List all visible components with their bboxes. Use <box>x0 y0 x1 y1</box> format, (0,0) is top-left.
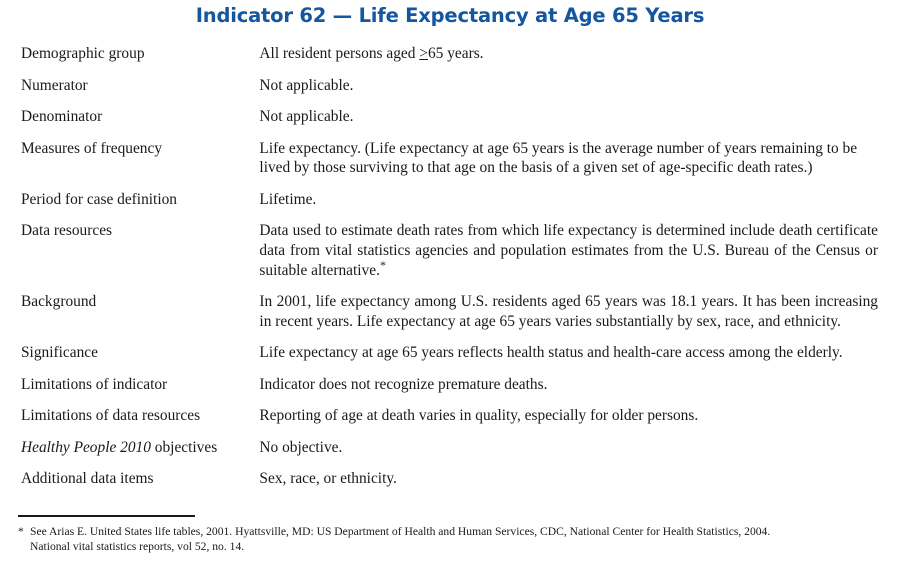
table-row: Limitations of indicator Indicator does … <box>21 375 878 407</box>
table-row: Limitations of data resources Reporting … <box>21 406 878 438</box>
footnote-text-2: National vital statistics reports, vol 5… <box>30 540 244 553</box>
row-label-significance: Significance <box>21 343 259 375</box>
greater-than-or-equal-glyph: > <box>419 45 428 62</box>
row-label-healthy-people-objectives: Healthy People 2010 objectives <box>21 438 259 470</box>
table-row: Demographic group All resident persons a… <box>21 44 878 76</box>
row-label-background: Background <box>21 292 259 343</box>
page-title: Indicator 62 — Life Expectancy at Age 65… <box>0 4 900 27</box>
table-row: Healthy People 2010 objectives No object… <box>21 438 878 470</box>
row-label-additional-data-items: Additional data items <box>21 469 259 501</box>
table-row: Additional data items Sex, race, or ethn… <box>21 469 878 501</box>
footnote-separator-rule <box>18 515 195 517</box>
table-row: Numerator Not applicable. <box>21 76 878 108</box>
row-value-background: In 2001, life expectancy among U.S. resi… <box>259 292 878 343</box>
row-value-significance: Life expectancy at age 65 years reflects… <box>259 343 878 375</box>
table-row: Background In 2001, life expectancy amon… <box>21 292 878 343</box>
row-value-healthy-people-objectives: No objective. <box>259 438 878 470</box>
label-plain-part: objectives <box>151 439 217 456</box>
table-row: Denominator Not applicable. <box>21 107 878 139</box>
row-label-numerator: Numerator <box>21 76 259 108</box>
row-value-numerator: Not applicable. <box>259 76 878 108</box>
row-label-period-for-case-definition: Period for case definition <box>21 190 259 222</box>
footnote: *See Arias E. United States life tables,… <box>18 524 898 555</box>
table-row: Significance Life expectancy at age 65 y… <box>21 343 878 375</box>
row-value-period-for-case-definition: Lifetime. <box>259 190 878 222</box>
label-italic-part: Healthy People 2010 <box>21 439 151 456</box>
row-value-additional-data-items: Sex, race, or ethnicity. <box>259 469 878 501</box>
row-label-limitations-of-data-resources: Limitations of data resources <box>21 406 259 438</box>
value-text-prefix: All resident persons aged <box>259 45 419 62</box>
table-row: Data resources Data used to estimate dea… <box>21 221 878 292</box>
row-value-demographic-group: All resident persons aged >65 years. <box>259 44 878 76</box>
row-value-data-resources: Data used to estimate death rates from w… <box>259 221 878 292</box>
footnote-marker: * <box>18 524 30 539</box>
value-text: Data used to estimate death rates from w… <box>259 222 878 278</box>
row-value-denominator: Not applicable. <box>259 107 878 139</box>
indicator-definition-table: Demographic group All resident persons a… <box>21 44 878 501</box>
footnote-line-1: *See Arias E. United States life tables,… <box>18 524 898 539</box>
row-label-data-resources: Data resources <box>21 221 259 292</box>
value-text-suffix: 65 years. <box>428 45 484 62</box>
row-label-measures-of-frequency: Measures of frequency <box>21 139 259 190</box>
row-value-limitations-of-indicator: Indicator does not recognize premature d… <box>259 375 878 407</box>
table-row: Period for case definition Lifetime. <box>21 190 878 222</box>
row-value-measures-of-frequency: Life expectancy. (Life expectancy at age… <box>259 139 878 190</box>
table-row: Measures of frequency Life expectancy. (… <box>21 139 878 190</box>
document-page: Indicator 62 — Life Expectancy at Age 65… <box>0 0 920 576</box>
footnote-line-2: National vital statistics reports, vol 5… <box>18 539 898 554</box>
footnote-text-1: See Arias E. United States life tables, … <box>30 525 770 538</box>
row-label-demographic-group: Demographic group <box>21 44 259 76</box>
footnote-reference-marker: * <box>380 257 386 271</box>
row-label-denominator: Denominator <box>21 107 259 139</box>
row-label-limitations-of-indicator: Limitations of indicator <box>21 375 259 407</box>
row-value-limitations-of-data-resources: Reporting of age at death varies in qual… <box>259 406 878 438</box>
